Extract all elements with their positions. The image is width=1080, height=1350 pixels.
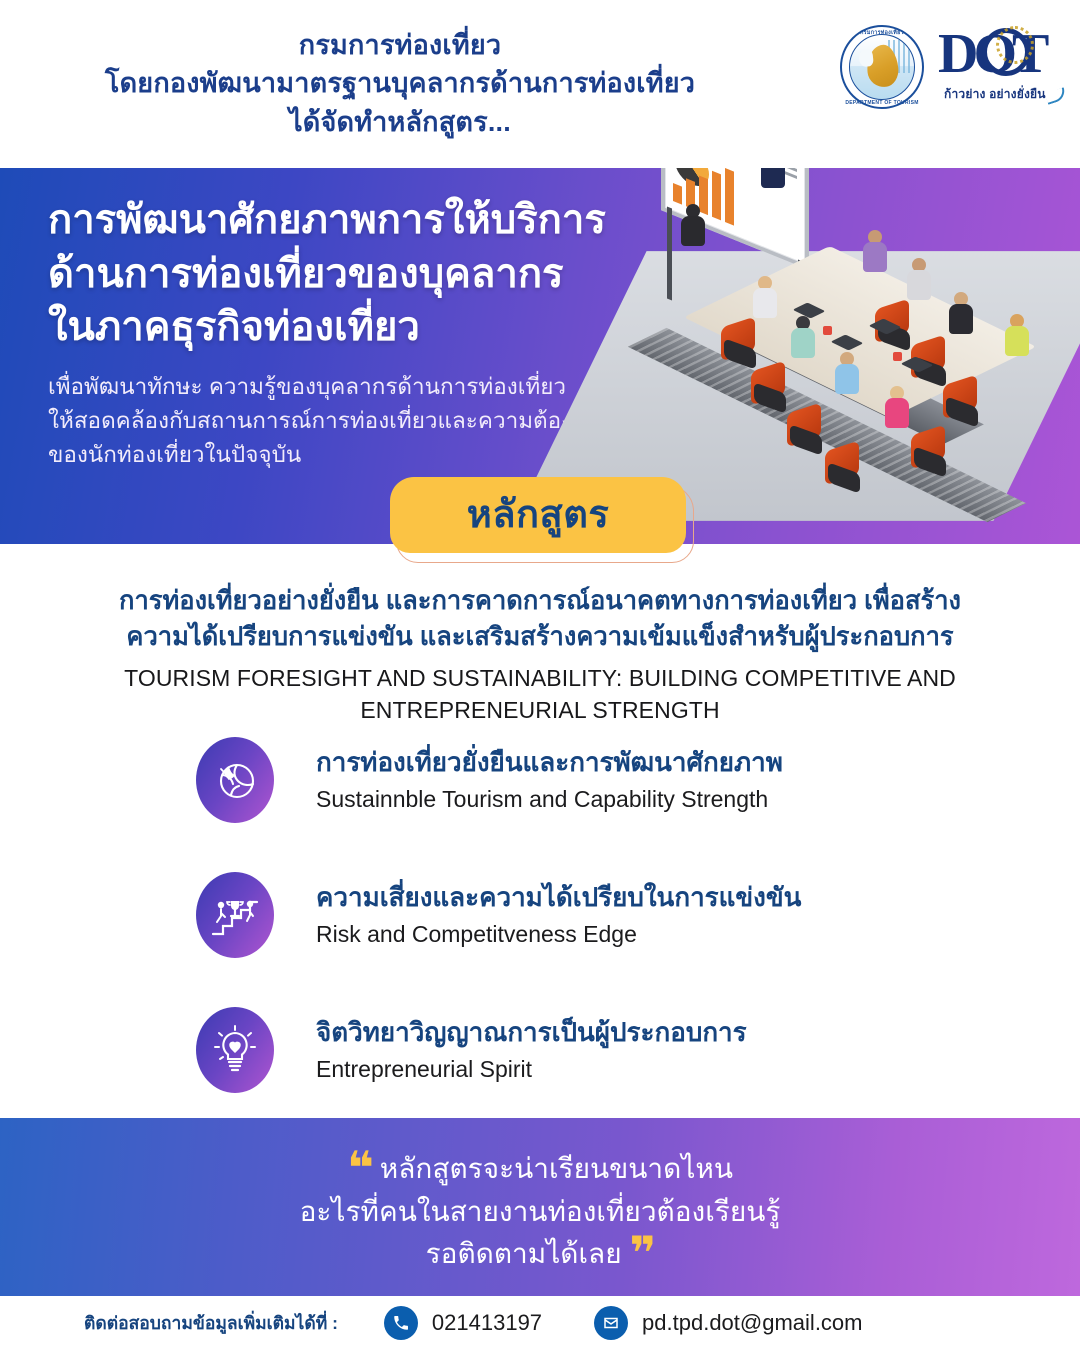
phone-icon [384, 1306, 418, 1340]
module-list: การท่องเที่ยวยั่งยืนและการพัฒนาศักยภาพ S… [0, 735, 1080, 1140]
course-title-thai: การท่องเที่ยวอย่างยั่งยืน และการคาดการณ์… [44, 583, 1036, 655]
hero-subtitle-line-1: เพื่อพัฒนาทักษะ ความรู้ของบุคลากรด้านการ… [48, 370, 648, 404]
header-line-1: กรมการท่องเที่ยว [0, 26, 800, 64]
seal-text-bottom: DEPARTMENT OF TOURISM [840, 100, 924, 106]
page-header: กรมการท่องเที่ยว โดยกองพัฒนามาตรฐานบุคลา… [0, 0, 1080, 168]
seal-text-top: กรมการท่องเที่ยว [840, 29, 924, 37]
course-title-english: TOURISM FORESIGHT AND SUSTAINABILITY: BU… [60, 663, 1020, 726]
course-title-english-line-2: ENTREPRENEURIAL STRENGTH [60, 695, 1020, 727]
logo-group: กรมการท่องเที่ยว DEPARTMENT OF TOURISM D… [840, 24, 1066, 110]
module-title-english: Entrepreneurial Spirit [316, 1055, 532, 1084]
quote-band: ❝ หลักสูตรจะน่าเรียนขนาดไหน อะไรที่คนในส… [0, 1118, 1080, 1296]
module-item-sustainable-tourism: การท่องเที่ยวยั่งยืนและการพัฒนาศักยภาพ S… [0, 735, 1080, 870]
globe-leaf-icon [196, 737, 274, 823]
contact-label: ติดต่อสอบถามข้อมูลเพิ่มเติมได้ที่ : [84, 1309, 338, 1337]
contact-phone-number: 021413197 [432, 1310, 542, 1336]
department-of-tourism-seal-icon: กรมการท่องเที่ยว DEPARTMENT OF TOURISM [840, 25, 924, 109]
quote-text: ❝ หลักสูตรจะน่าเรียนขนาดไหน อะไรที่คนในส… [0, 1148, 1080, 1276]
contact-email-address: pd.tpd.dot@gmail.com [642, 1310, 862, 1336]
dot-logo-gold-ring-icon [996, 26, 1034, 64]
contact-footer: ติดต่อสอบถามข้อมูลเพิ่มเติมได้ที่ : 0214… [0, 1296, 1080, 1350]
lightbulb-heart-icon [196, 1007, 274, 1093]
course-title-english-line-1: TOURISM FORESIGHT AND SUSTAINABILITY: BU… [60, 663, 1020, 695]
quote-line-2: อะไรที่คนในสายงานท่องเที่ยวต้องเรียนรู้ [0, 1191, 1080, 1234]
module-title-thai: การท่องเที่ยวยั่งยืนและการพัฒนาศักยภาพ [316, 747, 783, 778]
header-line-2: โดยกองพัฒนามาตรฐานบุคลากรด้านการท่องเที่… [0, 64, 800, 102]
quote-line-1: ❝ หลักสูตรจะน่าเรียนขนาดไหน [0, 1148, 1080, 1191]
quote-line-1-text: หลักสูตรจะน่าเรียนขนาดไหน [380, 1153, 733, 1184]
module-title-thai: ความเสี่ยงและความได้เปรียบในการแข่งขัน [316, 882, 801, 913]
course-badge-label: หลักสูตร [467, 483, 610, 544]
course-badge: หลักสูตร [390, 477, 694, 563]
header-organization-text: กรมการท่องเที่ยว โดยกองพัฒนามาตรฐานบุคลา… [0, 26, 800, 141]
dot-logo: DOT ก้าวย่าง อย่างยั่งยืน [938, 24, 1066, 110]
quote-line-3: รอติดตามได้เลย ❞ [0, 1233, 1080, 1276]
course-title-thai-line-2: ความได้เปรียบการแข่งขัน และเสริมสร้างควา… [44, 619, 1036, 655]
course-title-thai-line-1: การท่องเที่ยวอย่างยั่งยืน และการคาดการณ์… [44, 583, 1036, 619]
module-title-english: Sustainnble Tourism and Capability Stren… [316, 785, 768, 814]
quote-close-mark: ❞ [629, 1227, 654, 1279]
contact-email[interactable]: pd.tpd.dot@gmail.com [594, 1306, 862, 1340]
contact-phone[interactable]: 021413197 [384, 1306, 542, 1340]
module-title-english: Risk and Competitveness Edge [316, 920, 637, 949]
course-badge-face: หลักสูตร [390, 477, 686, 553]
module-item-risk-competitiveness: ความเสี่ยงและความได้เปรียบในการแข่งขัน R… [0, 870, 1080, 1005]
header-line-3: ได้จัดทำหลักสูตร... [0, 103, 800, 141]
quote-open-mark: ❝ [347, 1142, 372, 1194]
quote-line-3-text: รอติดตามได้เลย [426, 1238, 622, 1269]
envelope-icon [594, 1306, 628, 1340]
podium-trophy-icon [196, 872, 274, 958]
module-title-thai: จิตวิทยาวิญญาณการเป็นผู้ประกอบการ [316, 1017, 747, 1048]
